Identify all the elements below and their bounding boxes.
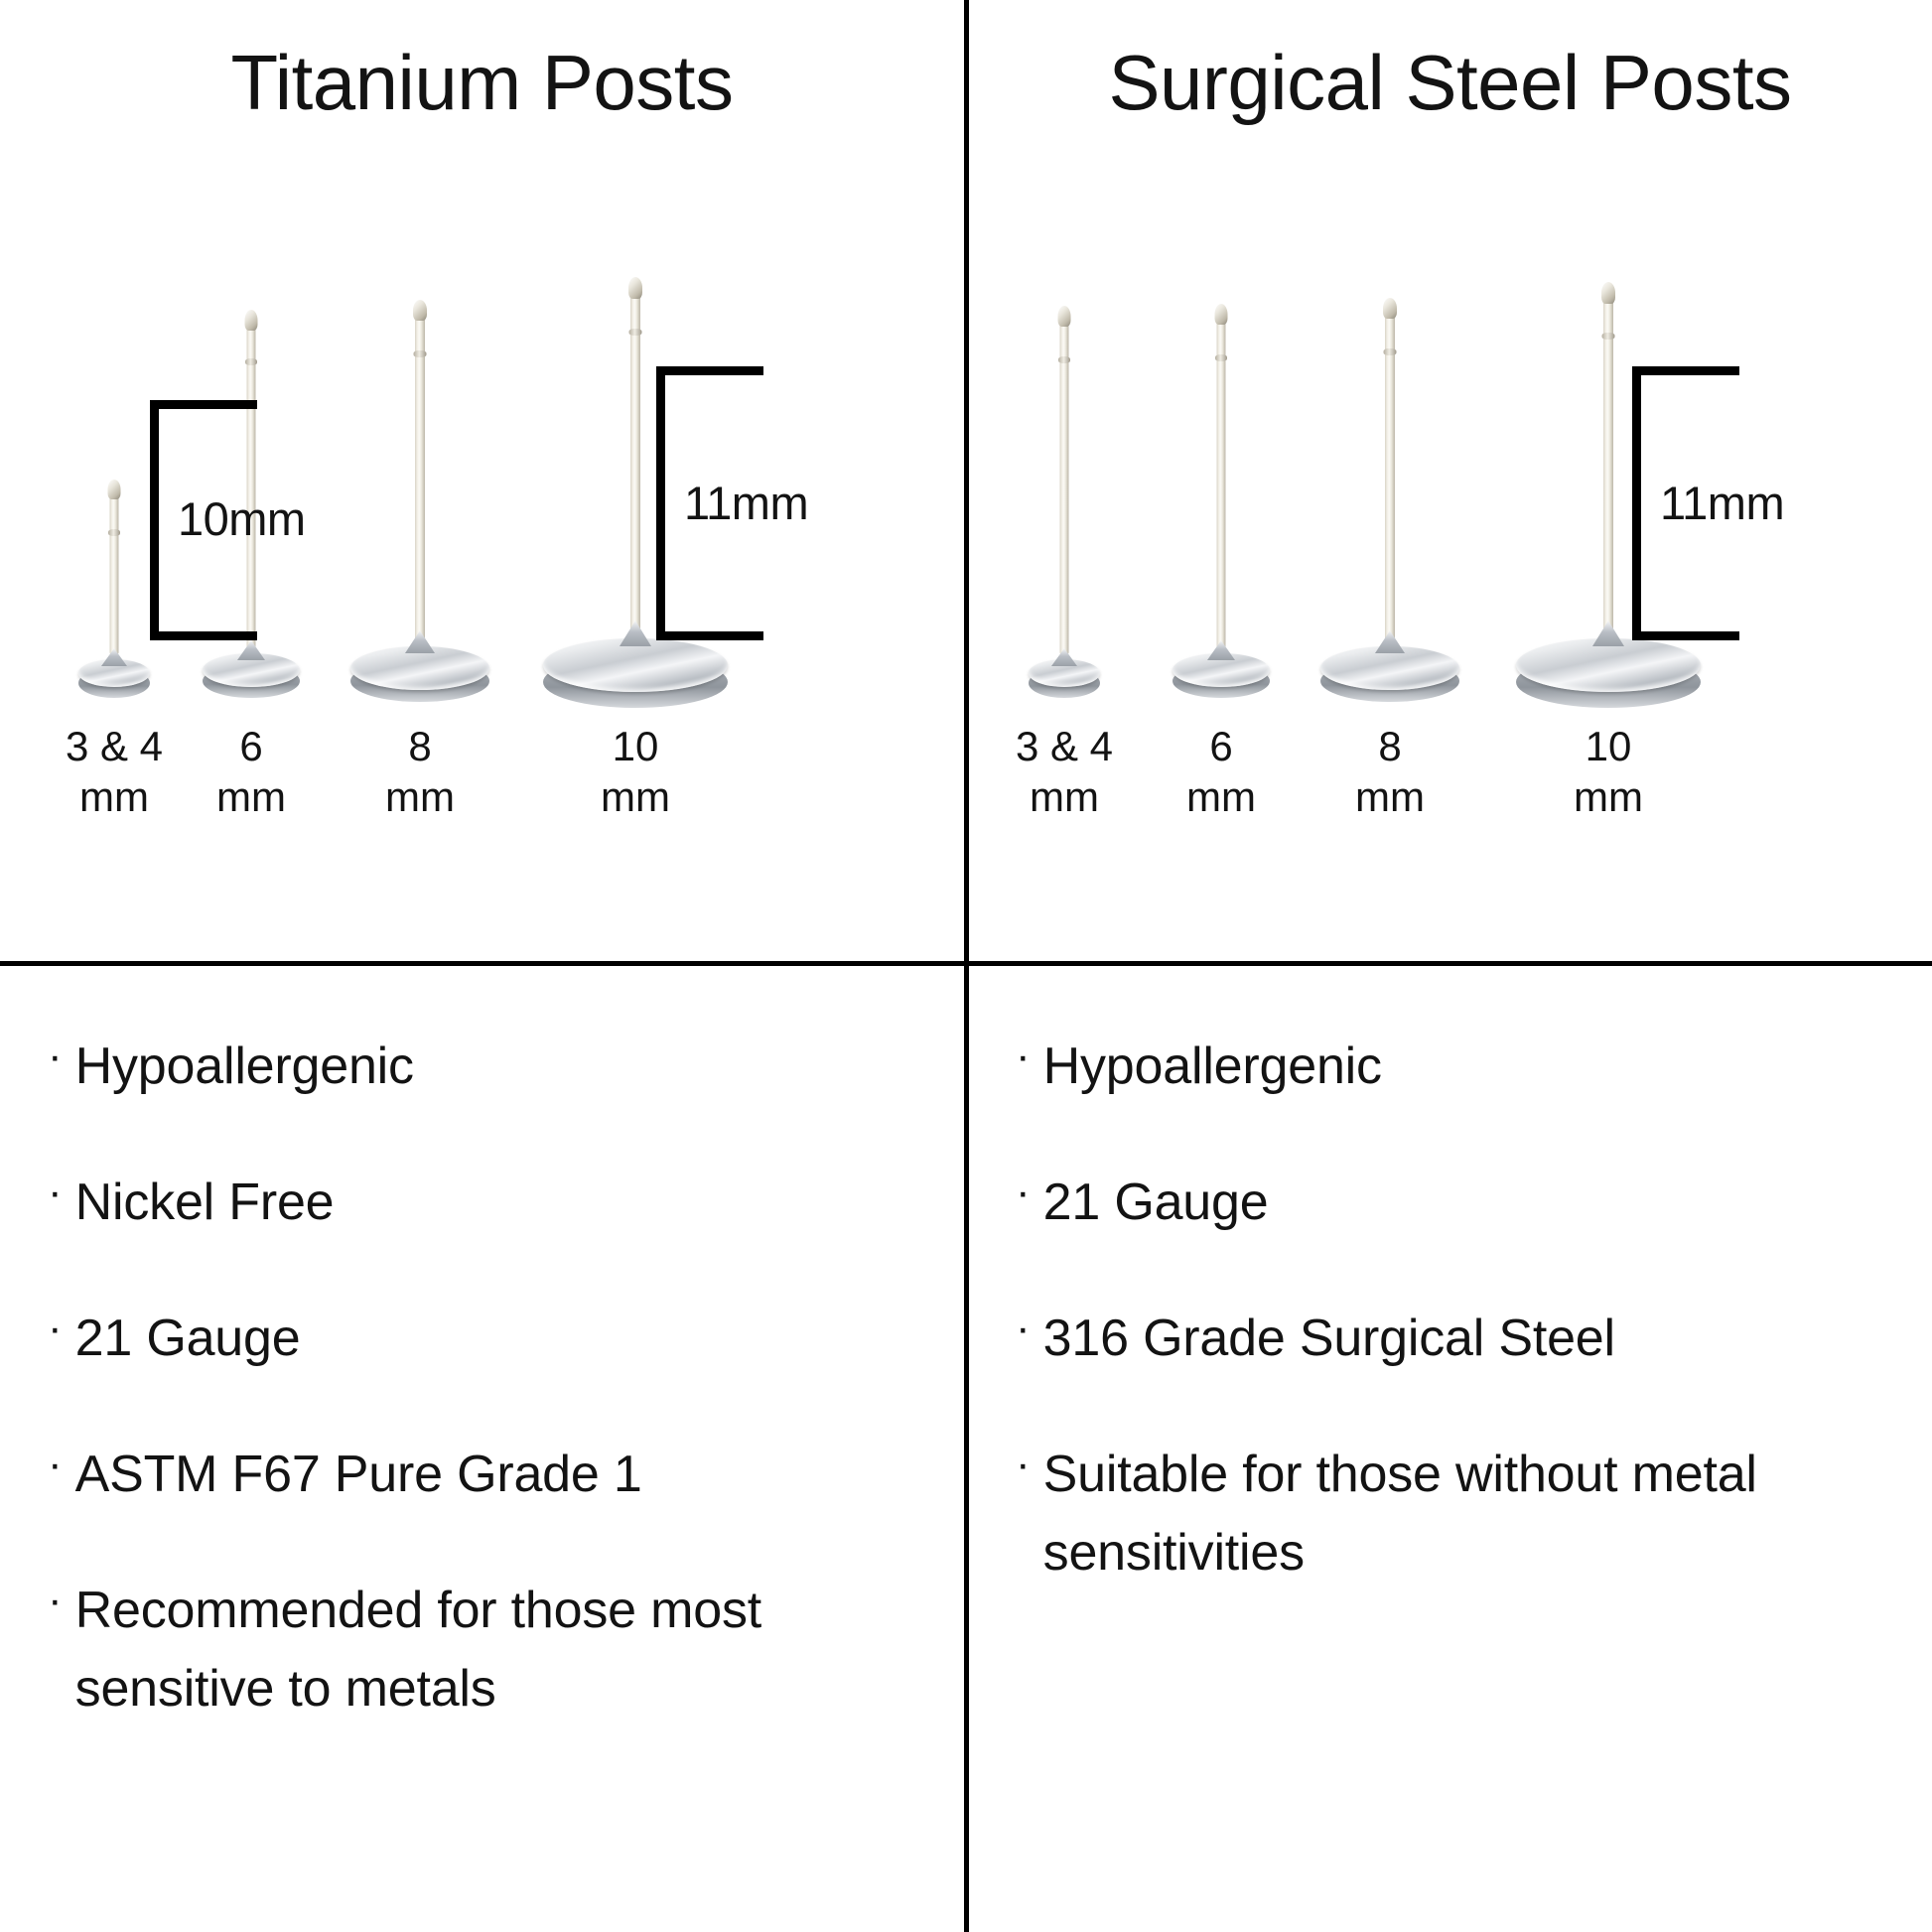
size-caption-3-4mm: 3 & 4 mm	[1016, 721, 1113, 822]
post-tip	[108, 480, 121, 499]
shaft-notch	[1602, 333, 1615, 340]
post-tip	[1215, 304, 1228, 325]
bullet-icon: ·	[1016, 1164, 1031, 1220]
post-tip	[1058, 306, 1071, 327]
bracket-stem	[150, 400, 159, 640]
measurement-label-11mm: 11mm	[684, 476, 808, 530]
size-caption-10mm: 10 mm	[601, 721, 670, 822]
bullet-icon: ·	[48, 1436, 63, 1492]
weld-cone	[1592, 621, 1624, 646]
list-item: · 21 Gauge	[48, 1300, 901, 1378]
bracket-cap-top	[150, 400, 257, 409]
list-item: · 21 Gauge	[1016, 1164, 1869, 1242]
size-value: 6	[1186, 721, 1256, 771]
feature-label: 21 Gauge	[75, 1300, 301, 1378]
bullet-icon: ·	[1016, 1300, 1031, 1356]
weld-cone	[620, 621, 651, 646]
bullet-icon: ·	[48, 1164, 63, 1220]
measurement-label-11mm: 11mm	[1660, 476, 1784, 530]
size-unit: mm	[1574, 771, 1643, 822]
list-item: · Hypoallergenic	[48, 1028, 901, 1106]
disc-base	[543, 638, 728, 692]
list-item: · ASTM F67 Pure Grade 1	[48, 1436, 901, 1514]
size-caption-8mm: 8 mm	[385, 721, 455, 822]
post-shaft	[1060, 315, 1069, 654]
size-caption-6mm: 6 mm	[1186, 721, 1256, 822]
weld-cone	[1375, 630, 1405, 653]
bullet-icon: ·	[48, 1300, 63, 1356]
weld-cone	[101, 648, 127, 666]
feature-label: ASTM F67 Pure Grade 1	[75, 1436, 642, 1514]
feature-label: Nickel Free	[75, 1164, 335, 1242]
measurement-label-10mm: 10mm	[178, 491, 306, 546]
bracket-stem	[1632, 366, 1641, 640]
bullet-icon: ·	[1016, 1436, 1031, 1492]
bracket-cap-bottom	[1632, 631, 1739, 640]
measurement-bracket-11mm: 11mm	[1632, 366, 1741, 640]
size-unit: mm	[1355, 771, 1425, 822]
horizontal-divider	[0, 961, 1932, 966]
size-value: 8	[1355, 721, 1425, 771]
bullet-icon: ·	[48, 1028, 63, 1084]
post-shaft	[1217, 313, 1226, 650]
bracket-cap-bottom	[150, 631, 257, 640]
post-shaft	[415, 309, 425, 640]
surgical-steel-feature-list: · Hypoallergenic · 21 Gauge · 316 Grade …	[1016, 1028, 1869, 1650]
measurement-bracket-11mm: 11mm	[656, 366, 765, 640]
feature-label: Hypoallergenic	[1043, 1028, 1382, 1106]
size-caption-8mm: 8 mm	[1355, 721, 1425, 822]
weld-cone	[237, 640, 265, 660]
post-shaft	[1603, 291, 1613, 632]
size-value: 3 & 4	[1016, 721, 1113, 771]
post-shaft	[1385, 307, 1395, 640]
measurement-bracket-10mm: 10mm	[150, 400, 259, 640]
shaft-notch	[414, 350, 427, 357]
post-tip	[413, 300, 427, 321]
post-tip	[245, 310, 258, 331]
post-tip	[1383, 298, 1397, 319]
bracket-stem	[656, 366, 665, 640]
shaft-notch	[108, 529, 120, 536]
size-caption-10mm: 10 mm	[1574, 721, 1643, 822]
size-unit: mm	[385, 771, 455, 822]
weld-cone	[1051, 648, 1077, 666]
size-value: 8	[385, 721, 455, 771]
weld-cone	[1207, 640, 1235, 660]
list-item: · 316 Grade Surgical Steel	[1016, 1300, 1869, 1378]
list-item: · Recommended for those most sensitive t…	[48, 1572, 901, 1728]
size-unit: mm	[601, 771, 670, 822]
post-shaft	[110, 487, 119, 654]
titanium-feature-list: · Hypoallergenic · Nickel Free · 21 Gaug…	[48, 1028, 901, 1786]
bullet-icon: ·	[48, 1572, 63, 1628]
shaft-notch	[1215, 354, 1227, 361]
feature-label: Hypoallergenic	[75, 1028, 414, 1106]
feature-label: 21 Gauge	[1043, 1164, 1269, 1242]
size-caption-6mm: 6 mm	[216, 721, 286, 822]
list-item: · Hypoallergenic	[1016, 1028, 1869, 1106]
titanium-post-diagram: 10mm 11mm 3 & 4 mm 6 mm 8 mm 10 mm	[0, 0, 964, 961]
surgical-steel-post-diagram: 11mm 3 & 4 mm 6 mm 8 mm 10 mm	[968, 0, 1932, 961]
bullet-icon: ·	[1016, 1028, 1031, 1084]
size-unit: mm	[1016, 771, 1113, 822]
post-tip	[628, 277, 642, 299]
feature-label: Suitable for those without metal sensiti…	[1043, 1436, 1818, 1592]
size-unit: mm	[216, 771, 286, 822]
size-value: 10	[601, 721, 670, 771]
size-value: 3 & 4	[66, 721, 163, 771]
bracket-cap-top	[656, 366, 763, 375]
shaft-notch	[629, 329, 642, 336]
shaft-notch	[1058, 356, 1070, 363]
post-tip	[1601, 282, 1615, 304]
size-caption-3-4mm: 3 & 4 mm	[66, 721, 163, 822]
post-shaft	[630, 286, 640, 631]
feature-label: 316 Grade Surgical Steel	[1043, 1300, 1615, 1378]
bracket-cap-bottom	[656, 631, 763, 640]
size-unit: mm	[66, 771, 163, 822]
post-comparison-infographic: Titanium Posts Surgical Steel Posts	[0, 0, 1932, 1932]
size-value: 6	[216, 721, 286, 771]
size-unit: mm	[1186, 771, 1256, 822]
feature-label: Recommended for those most sensitive to …	[75, 1572, 850, 1728]
disc-base	[1516, 638, 1701, 692]
shaft-notch	[245, 358, 257, 365]
shaft-notch	[1384, 348, 1397, 355]
size-value: 10	[1574, 721, 1643, 771]
weld-cone	[405, 630, 435, 653]
list-item: · Nickel Free	[48, 1164, 901, 1242]
bracket-cap-top	[1632, 366, 1739, 375]
list-item: · Suitable for those without metal sensi…	[1016, 1436, 1869, 1592]
